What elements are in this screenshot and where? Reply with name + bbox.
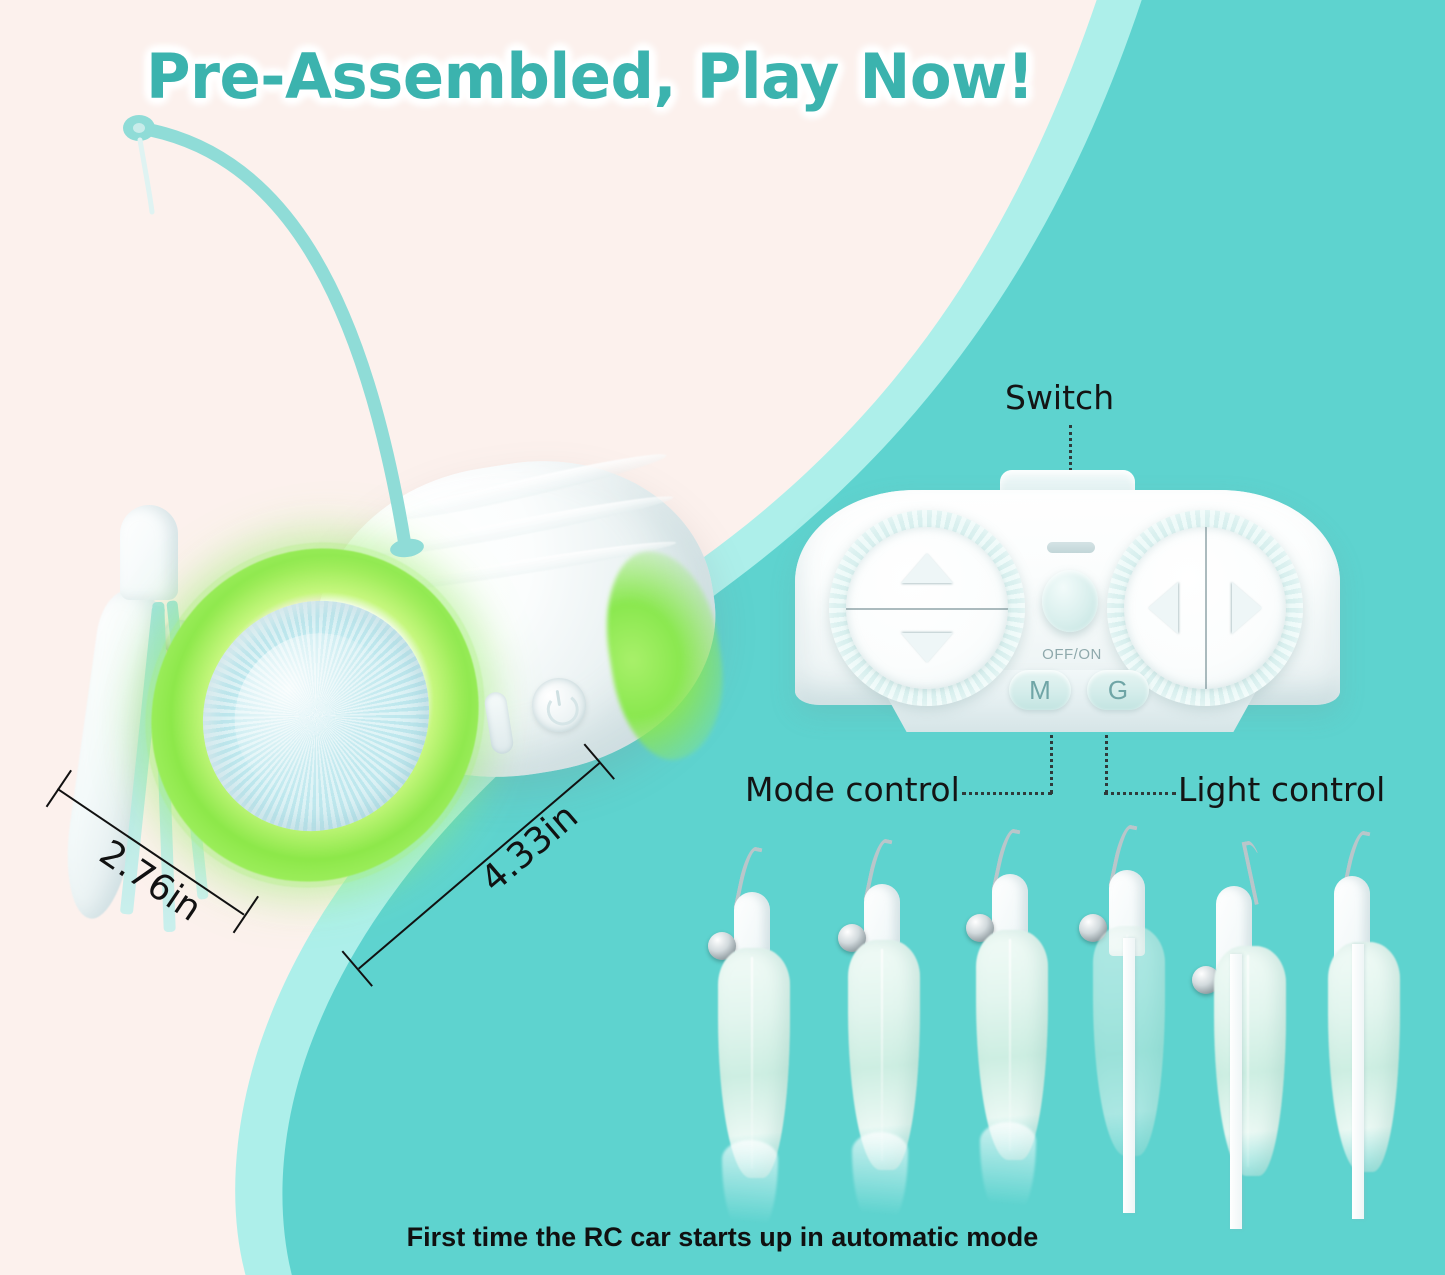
dpad-left-divider xyxy=(846,608,1008,610)
dpad-left[interactable] xyxy=(829,510,1025,706)
wand-stick xyxy=(1123,938,1135,1213)
dpad-right-divider xyxy=(1205,527,1207,689)
remote-controller: OFF/ON M G xyxy=(795,470,1340,770)
wand-cap xyxy=(864,884,900,946)
wand-cap xyxy=(734,892,770,954)
feather-plume xyxy=(1328,942,1400,1172)
feather-wisp xyxy=(980,1122,1036,1217)
triangle-right-icon[interactable] xyxy=(1232,582,1262,634)
feather-wand xyxy=(1308,824,1418,1219)
callout-label-mode-control: Mode control xyxy=(745,770,960,809)
led-indicator xyxy=(1047,542,1095,553)
footer-caption: First time the RC car starts up in autom… xyxy=(0,1222,1445,1253)
page-title: Pre-Assembled, Play Now! xyxy=(12,40,1168,113)
wand-stick xyxy=(1352,944,1364,1219)
infographic-canvas: Pre-Assembled, Play Now! xyxy=(0,0,1445,1275)
mode-button[interactable]: M xyxy=(1009,670,1071,710)
callout-label-light-control: Light control xyxy=(1178,770,1385,809)
triangle-left-icon[interactable] xyxy=(1148,582,1178,634)
product-rc-cat-ball-car xyxy=(140,430,720,930)
dpad-right-surface[interactable] xyxy=(1124,527,1286,689)
callout-label-switch: Switch xyxy=(1005,378,1114,417)
power-switch-label: OFF/ON xyxy=(1032,646,1112,663)
feather-plume xyxy=(1214,946,1286,1176)
light-button[interactable]: G xyxy=(1087,670,1149,710)
feather-wisp xyxy=(722,1140,778,1235)
feather-wand xyxy=(1075,818,1185,1213)
triangle-up-icon[interactable] xyxy=(901,553,953,583)
power-switch[interactable] xyxy=(1042,570,1098,632)
wand-cap xyxy=(992,874,1028,936)
teaser-cap xyxy=(120,505,178,600)
feather-wand xyxy=(1188,834,1298,1229)
feather-wand xyxy=(830,832,940,1227)
power-icon xyxy=(544,691,581,728)
wand-stick xyxy=(1230,954,1242,1229)
callout-leader-mode-h xyxy=(962,792,1052,795)
feather-wisp xyxy=(852,1132,908,1227)
feather-wand xyxy=(700,840,810,1235)
feather-refill-group xyxy=(690,830,1445,1225)
triangle-down-icon[interactable] xyxy=(901,633,953,663)
callout-leader-light-h xyxy=(1104,792,1176,795)
feather-wand xyxy=(958,822,1068,1217)
dpad-left-surface[interactable] xyxy=(846,527,1008,689)
